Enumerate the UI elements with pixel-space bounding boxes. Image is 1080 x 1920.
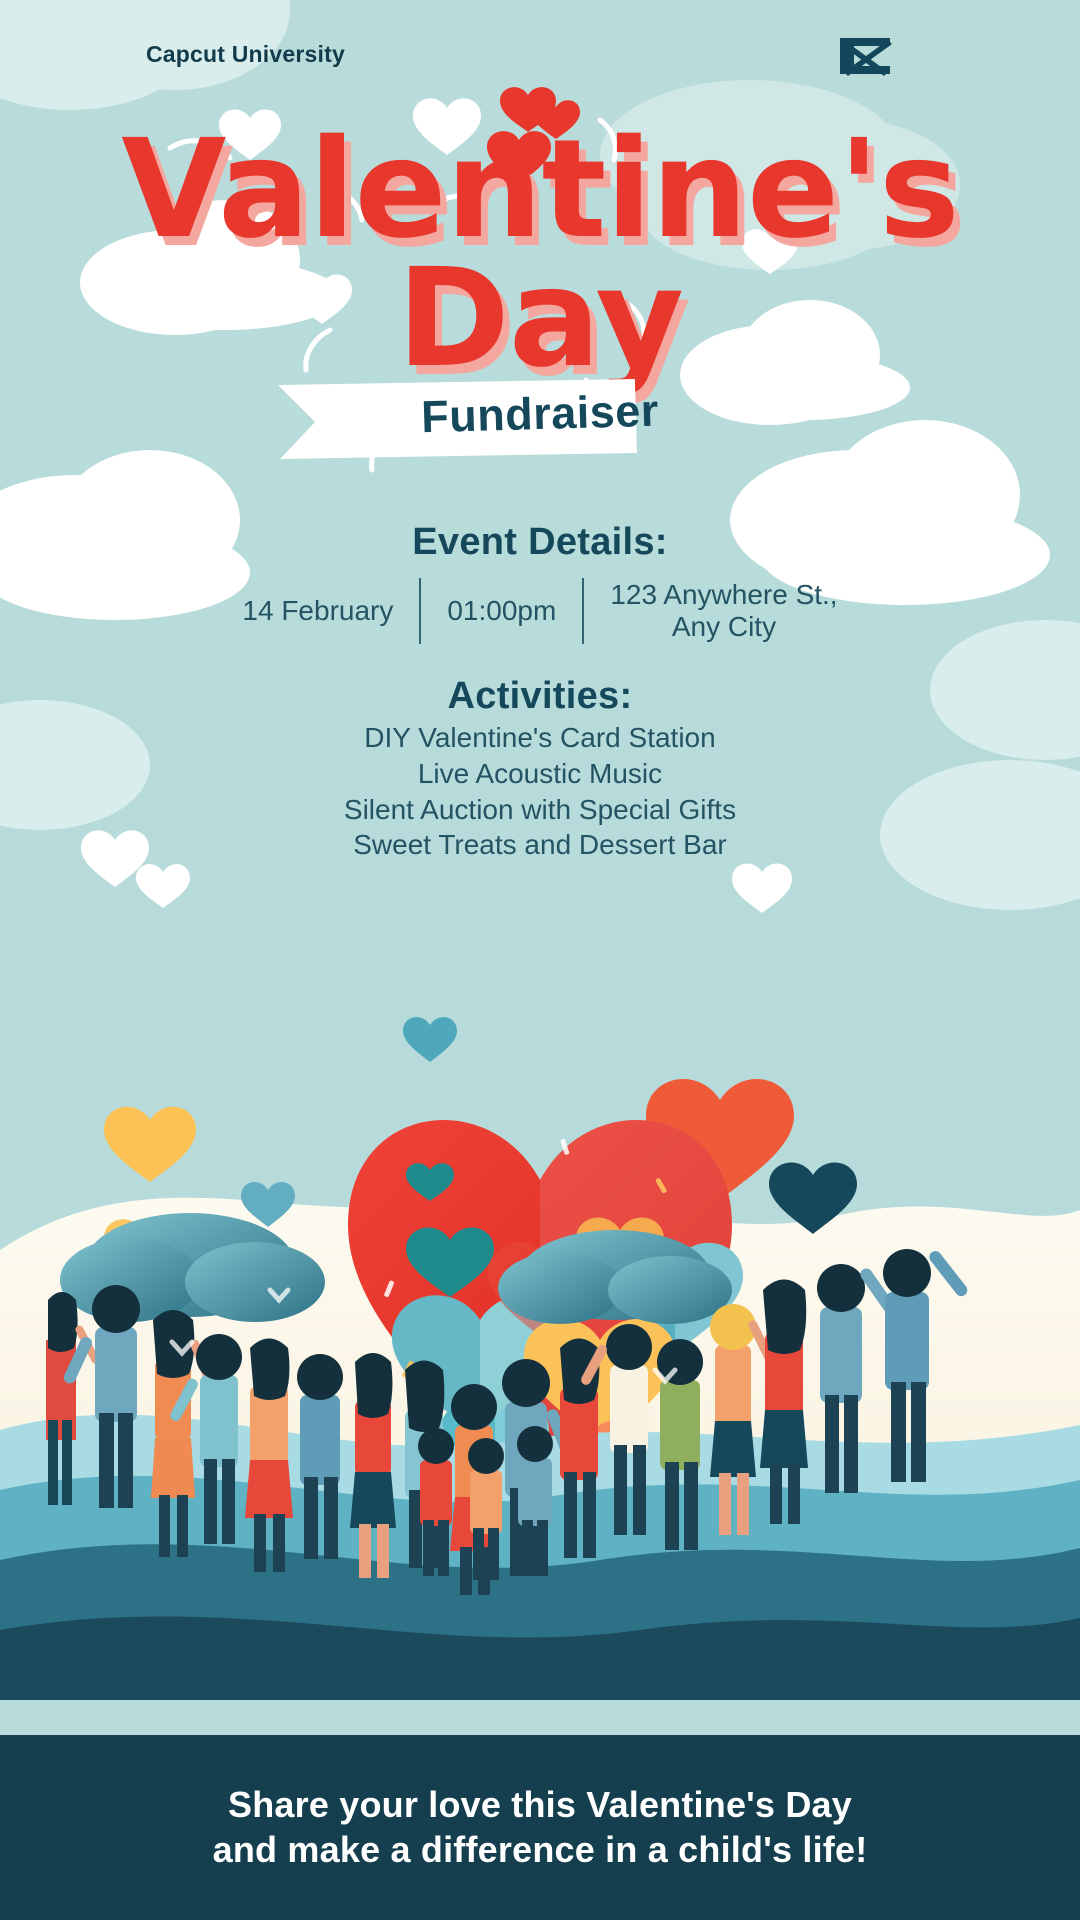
detail-divider-1	[419, 578, 421, 644]
list-item: Live Acoustic Music	[0, 759, 1080, 790]
activities-heading: Activities:	[0, 675, 1080, 718]
activities-list: DIY Valentine's Card Station Live Acoust…	[0, 723, 1080, 866]
list-item: Silent Auction with Special Gifts	[0, 795, 1080, 826]
event-address-line-1: 123 Anywhere St.,	[610, 579, 837, 610]
poster-canvas: Capcut University Valentine's Day Fundra…	[0, 0, 1080, 1920]
event-address-line-2: Any City	[672, 611, 776, 642]
event-date: 14 February	[216, 595, 419, 627]
footer-line-1: Share your love this Valentine's Day	[228, 1783, 852, 1828]
event-details-heading: Event Details:	[0, 521, 1080, 564]
community-heart-illustration	[0, 1000, 1080, 1700]
footer-line-2: and make a difference in a child's life!	[213, 1828, 868, 1873]
list-item: Sweet Treats and Dessert Bar	[0, 830, 1080, 861]
header-bar: Capcut University	[0, 0, 1080, 105]
detail-divider-2	[582, 578, 584, 644]
event-time: 01:00pm	[421, 595, 582, 627]
capcut-logo-icon[interactable]	[838, 34, 894, 78]
event-address: 123 Anywhere St., Any City	[584, 579, 863, 642]
event-details-row: 14 February 01:00pm 123 Anywhere St., An…	[0, 578, 1080, 644]
list-item: DIY Valentine's Card Station	[0, 723, 1080, 754]
footer-banner: Share your love this Valentine's Day and…	[0, 1735, 1080, 1920]
title-line-1: Valentine's	[0, 128, 1080, 253]
title-line-2: Day	[0, 257, 1080, 382]
poster-title: Valentine's Day	[0, 128, 1080, 382]
brand-name: Capcut University	[146, 41, 345, 68]
